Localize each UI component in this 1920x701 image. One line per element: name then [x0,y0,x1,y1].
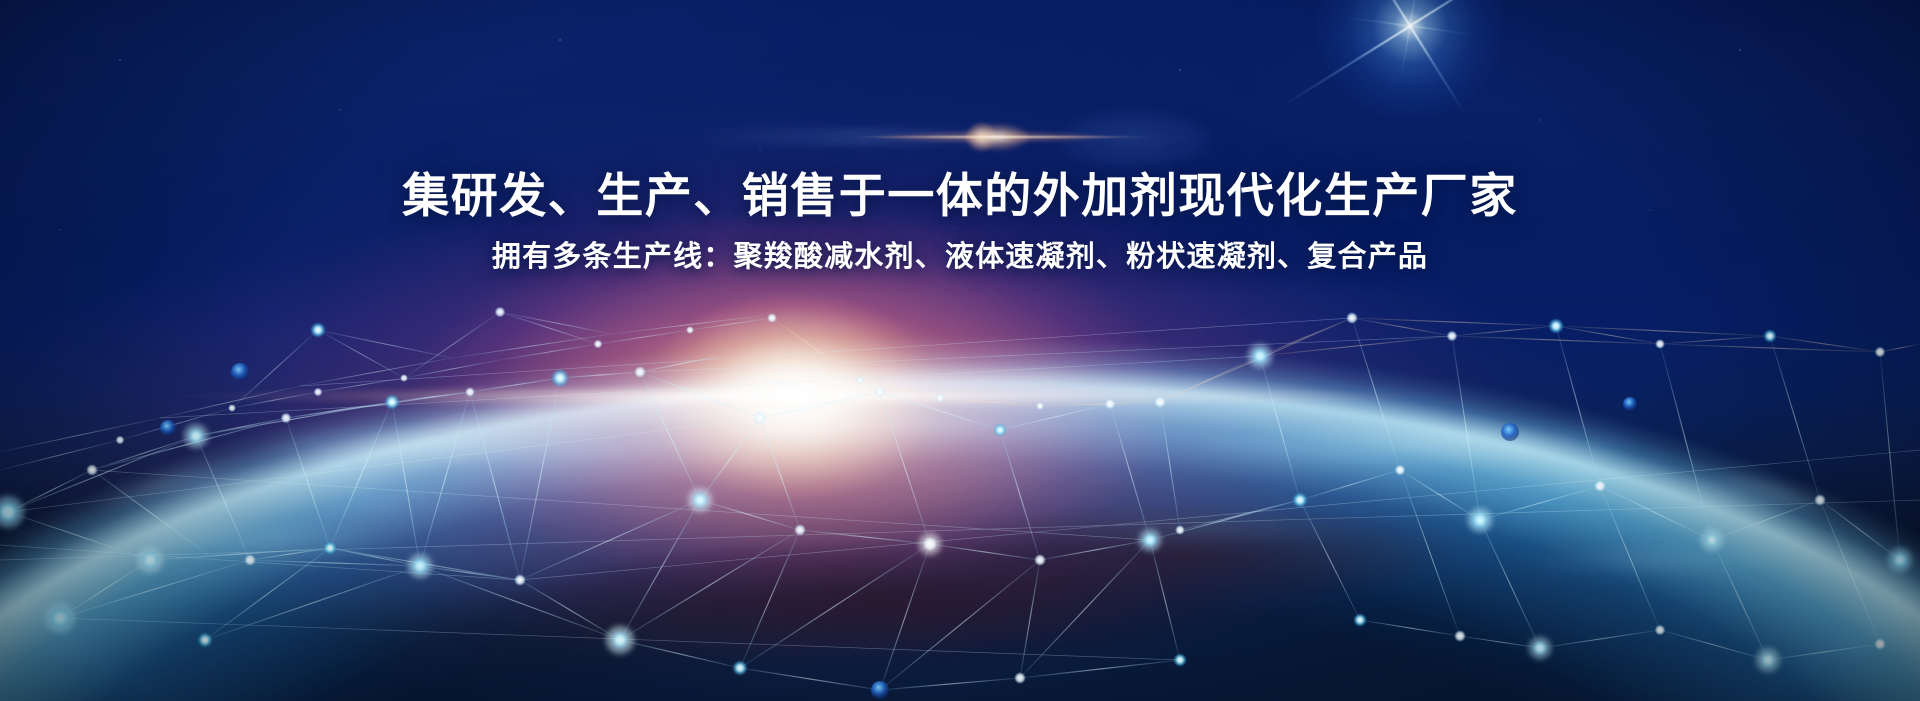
banner-copy: 集研发、生产、销售于一体的外加剂现代化生产厂家 拥有多条生产线：聚羧酸减水剂、液… [0,168,1920,277]
hero-banner: 集研发、生产、销售于一体的外加剂现代化生产厂家 拥有多条生产线：聚羧酸减水剂、液… [0,0,1920,701]
banner-subheadline: 拥有多条生产线：聚羧酸减水剂、液体速凝剂、粉状速凝剂、复合产品 [0,239,1920,277]
network-mesh-overlay [0,0,1920,701]
banner-headline: 集研发、生产、销售于一体的外加剂现代化生产厂家 [0,168,1920,223]
